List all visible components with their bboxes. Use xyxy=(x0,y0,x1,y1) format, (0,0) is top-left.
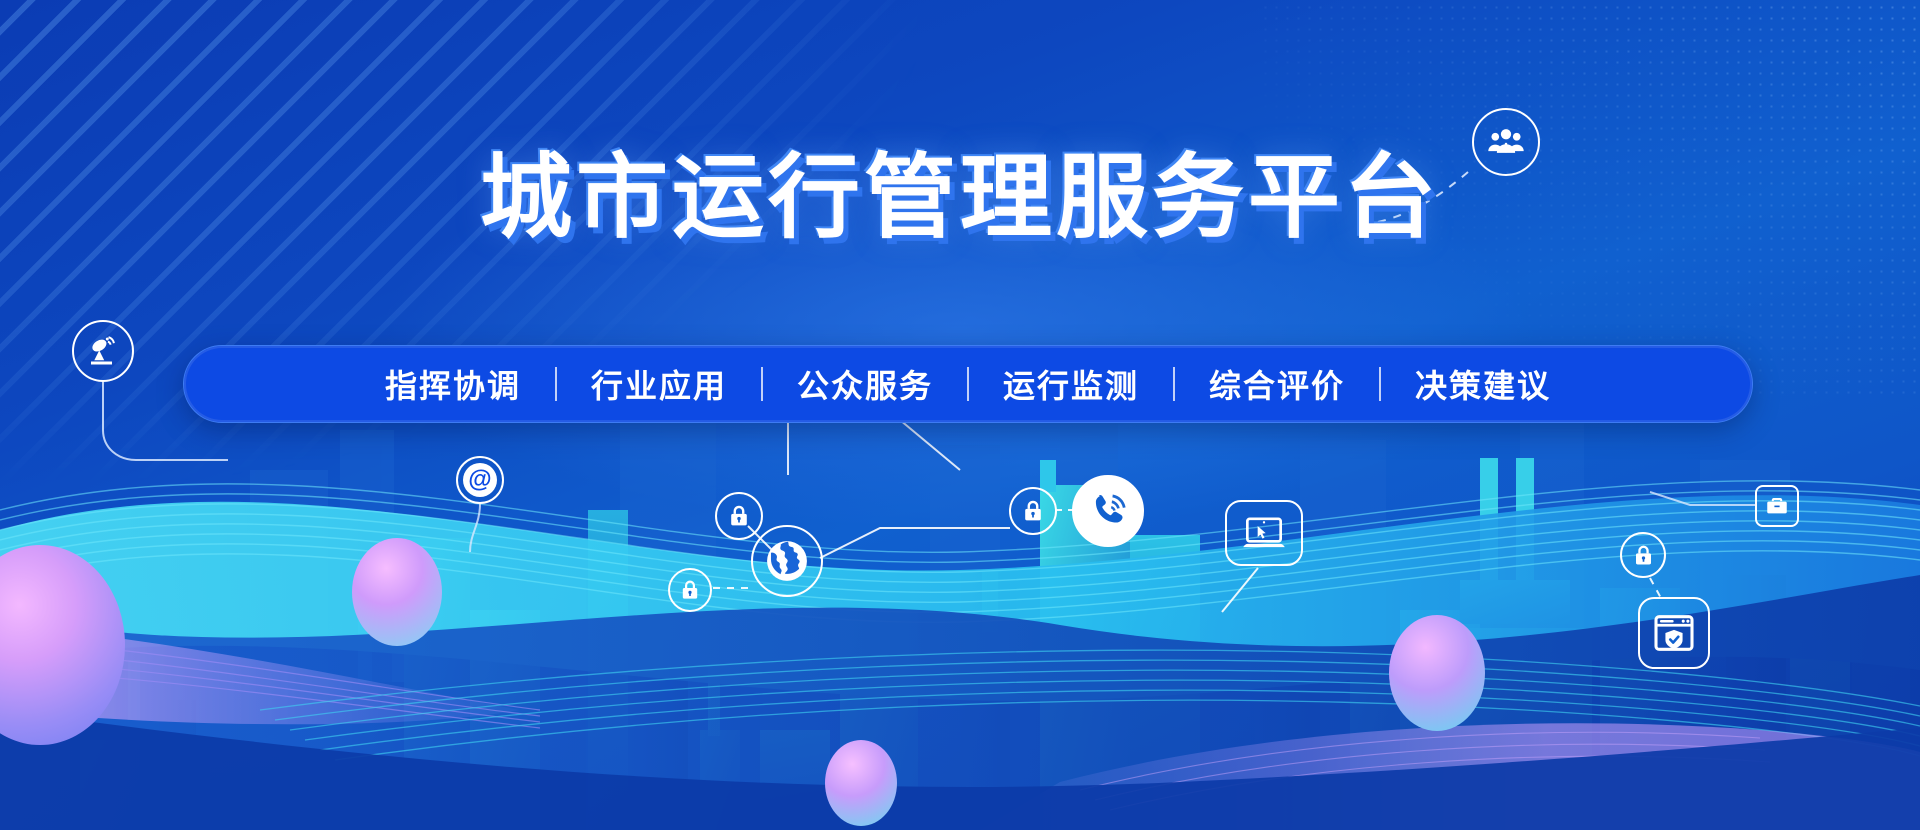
lock-badge-lower[interactable] xyxy=(668,568,712,612)
primary-nav-bar[interactable]: 指挥协调行业应用公众服务运行监测综合评价决策建议 xyxy=(183,345,1753,423)
laptop-cursor-icon xyxy=(1225,500,1303,566)
phone-call-badge[interactable] xyxy=(1072,475,1144,547)
briefcase-icon xyxy=(1755,485,1799,527)
shield-browser-badge[interactable] xyxy=(1638,597,1710,669)
nav-item-decision-advice[interactable]: 决策建议 xyxy=(1381,361,1585,407)
satellite-dish-badge[interactable] xyxy=(72,320,134,382)
at-sign-badge[interactable]: @ xyxy=(456,456,504,504)
hero-banner: @ xyxy=(0,0,1920,830)
lock-icon xyxy=(668,568,712,612)
page-title: 城市运行管理服务平台 xyxy=(480,150,1440,247)
globe-badge[interactable] xyxy=(751,525,823,597)
lock-icon xyxy=(1620,532,1666,578)
wave-decoration xyxy=(0,410,1920,830)
nav-item-public-service[interactable]: 公众服务 xyxy=(763,361,967,407)
phone-call-icon xyxy=(1072,475,1144,547)
nav-item-command-coordination[interactable]: 指挥协调 xyxy=(351,361,555,407)
nav-items-container: 指挥协调行业应用公众服务运行监测综合评价决策建议 xyxy=(351,361,1585,407)
lock-badge-mid[interactable] xyxy=(1009,487,1057,535)
lock-icon xyxy=(1009,487,1057,535)
lock-badge-right[interactable] xyxy=(1620,532,1666,578)
globe-icon xyxy=(751,525,823,597)
nav-item-comprehensive-evaluation[interactable]: 综合评价 xyxy=(1175,361,1379,407)
nav-item-industry-application[interactable]: 行业应用 xyxy=(557,361,761,407)
shield-browser-icon xyxy=(1638,597,1710,669)
at-sign-icon: @ xyxy=(456,456,504,504)
briefcase-badge[interactable] xyxy=(1755,485,1799,527)
title-container: 城市运行管理服务平台 xyxy=(0,150,1920,247)
laptop-badge[interactable] xyxy=(1225,500,1303,566)
satellite-dish-icon xyxy=(72,320,134,382)
nav-item-operation-monitoring[interactable]: 运行监测 xyxy=(969,361,1173,407)
